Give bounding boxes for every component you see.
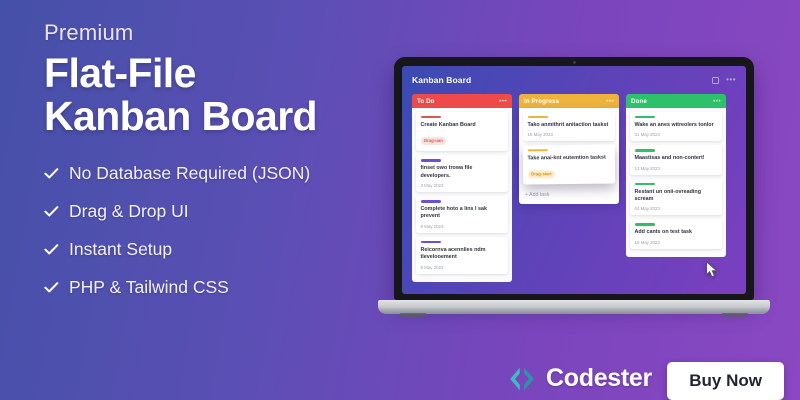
feature-item: Instant Setup: [44, 239, 394, 260]
column-header: Done•••: [626, 94, 726, 108]
laptop-foot-right: [722, 313, 748, 317]
hero-eyebrow: Premium: [44, 20, 394, 46]
brand-name: Codester: [546, 364, 652, 393]
column-menu-icon[interactable]: •••: [499, 100, 507, 103]
card-color-bar: [635, 183, 655, 185]
laptop-mockup: Kanban Board ••• To Do•••Create Kanban B…: [378, 57, 770, 327]
laptop-foot-left: [400, 313, 426, 317]
feature-label: Drag & Drop UI: [69, 201, 189, 222]
card-title: Add cants on test task: [635, 229, 718, 236]
check-icon: [44, 204, 59, 219]
card-title: Wake an anes witreolers tonlor: [635, 122, 718, 129]
card-tag: Drag-start: [528, 170, 556, 178]
card-title: Restant un onii-ovreading scream: [635, 189, 718, 204]
card-color-bar: [527, 150, 547, 153]
card-date: 04 May 2023: [635, 206, 718, 211]
column-title: Done: [631, 98, 647, 105]
kanban-app-screen: Kanban Board ••• To Do•••Create Kanban B…: [402, 66, 746, 294]
kanban-columns: To Do•••Create Kanban BoardDrag-uanfinse…: [412, 94, 736, 282]
card-title: Create Kanban Board: [421, 122, 504, 129]
feature-item: Drag & Drop UI: [44, 201, 394, 222]
kanban-column: Done•••Wake an anes witreolers tonlor31 …: [626, 94, 726, 257]
card-tag: Drag-uan: [421, 137, 447, 145]
card-title: finset owo trowa file developers.: [421, 165, 504, 180]
card-date: 3 May 2023: [421, 183, 504, 188]
task-card[interactable]: Wake an anes witreolers tonlor31 May 202…: [630, 112, 722, 141]
check-icon: [44, 280, 59, 295]
card-color-bar: [528, 116, 548, 118]
card-color-bar: [421, 241, 441, 243]
card-date: 8 May 2023: [421, 224, 504, 229]
card-title: Maastisas and non-contert!: [635, 155, 718, 162]
task-card[interactable]: Reicornva acennlies ndm tlevelooement8 M…: [416, 237, 508, 274]
feature-item: PHP & Tailwind CSS: [44, 277, 394, 298]
task-card[interactable]: Create Kanban BoardDrag-uan: [416, 112, 508, 151]
card-date: 16 May 2023: [528, 132, 611, 137]
card-date: 13 May 2023: [635, 166, 718, 171]
card-title: Reicornva acennlies ndm tlevelooement: [421, 247, 504, 262]
task-card[interactable]: Add cants on test task15 May 2023: [630, 219, 722, 248]
task-card[interactable]: Take anai-knt eutemtion taskstDrag-start: [523, 145, 615, 185]
card-date: 8 May 2023: [421, 265, 504, 270]
kanban-column: To Do•••Create Kanban BoardDrag-uanfinse…: [412, 94, 512, 282]
kanban-column: In Progress•••Tako anmithrit anitaction …: [519, 94, 619, 204]
laptop-base: [378, 300, 770, 314]
feature-item: No Database Required (JSON): [44, 163, 394, 184]
card-title: Take anai-knt eutemtion taskst: [527, 155, 610, 163]
column-body: Wake an anes witreolers tonlor31 May 202…: [626, 108, 726, 257]
add-task-button[interactable]: + Add task: [523, 189, 615, 200]
feature-label: PHP & Tailwind CSS: [69, 277, 229, 298]
webcam-icon: [573, 61, 576, 64]
column-title: To Do: [417, 98, 435, 105]
card-date: 15 May 2023: [635, 240, 718, 245]
codester-brackets-icon: [508, 365, 536, 393]
card-color-bar: [635, 149, 655, 151]
column-body: Tako anmithrit anitaction taskst16 May 2…: [519, 108, 619, 204]
task-card[interactable]: Maastisas and non-contert!13 May 2023: [630, 145, 722, 174]
column-menu-icon[interactable]: •••: [713, 100, 721, 103]
hero-title-line2: Kanban Board: [44, 93, 317, 139]
board-menu-icon[interactable]: •••: [726, 78, 736, 82]
card-color-bar: [635, 116, 655, 118]
task-card[interactable]: Tako anmithrit anitaction taskst16 May 2…: [523, 112, 615, 141]
board-title: Kanban Board: [412, 75, 471, 85]
layout-square-icon[interactable]: [712, 77, 719, 84]
column-title: In Progress: [524, 98, 559, 105]
card-color-bar: [421, 116, 441, 118]
card-date: 31 May 2023: [635, 132, 718, 137]
card-title: Complete hoto a lins I sak prevent: [421, 206, 504, 221]
board-header: Kanban Board •••: [412, 75, 736, 85]
task-card[interactable]: Restant un onii-ovreading scream04 May 2…: [630, 179, 722, 216]
feature-list: No Database Required (JSON)Drag & Drop U…: [44, 163, 394, 298]
check-icon: [44, 166, 59, 181]
feature-label: Instant Setup: [69, 239, 172, 260]
laptop-screen-bezel: Kanban Board ••• To Do•••Create Kanban B…: [394, 57, 754, 300]
card-color-bar: [635, 223, 655, 225]
column-header: In Progress•••: [519, 94, 619, 108]
hero-title-line1: Flat-File: [44, 50, 196, 96]
feature-label: No Database Required (JSON): [69, 163, 310, 184]
hero-panel: Premium Flat-File Kanban Board No Databa…: [44, 20, 394, 315]
card-color-bar: [421, 159, 441, 161]
mouse-cursor-icon: [704, 261, 720, 279]
task-card[interactable]: finset owo trowa file developers.3 May 2…: [416, 155, 508, 192]
card-title: Tako anmithrit anitaction taskst: [528, 122, 611, 129]
column-body: Create Kanban BoardDrag-uanfinset owo tr…: [412, 108, 512, 282]
brand-logo: Codester: [508, 364, 652, 393]
column-menu-icon[interactable]: •••: [606, 100, 614, 103]
check-icon: [44, 242, 59, 257]
board-header-actions: •••: [712, 77, 736, 84]
buy-now-button[interactable]: Buy Now: [667, 362, 784, 400]
task-card[interactable]: Complete hoto a lins I sak prevent8 May …: [416, 196, 508, 233]
column-header: To Do•••: [412, 94, 512, 108]
card-color-bar: [421, 200, 441, 202]
page-title: Flat-File Kanban Board: [44, 52, 394, 139]
